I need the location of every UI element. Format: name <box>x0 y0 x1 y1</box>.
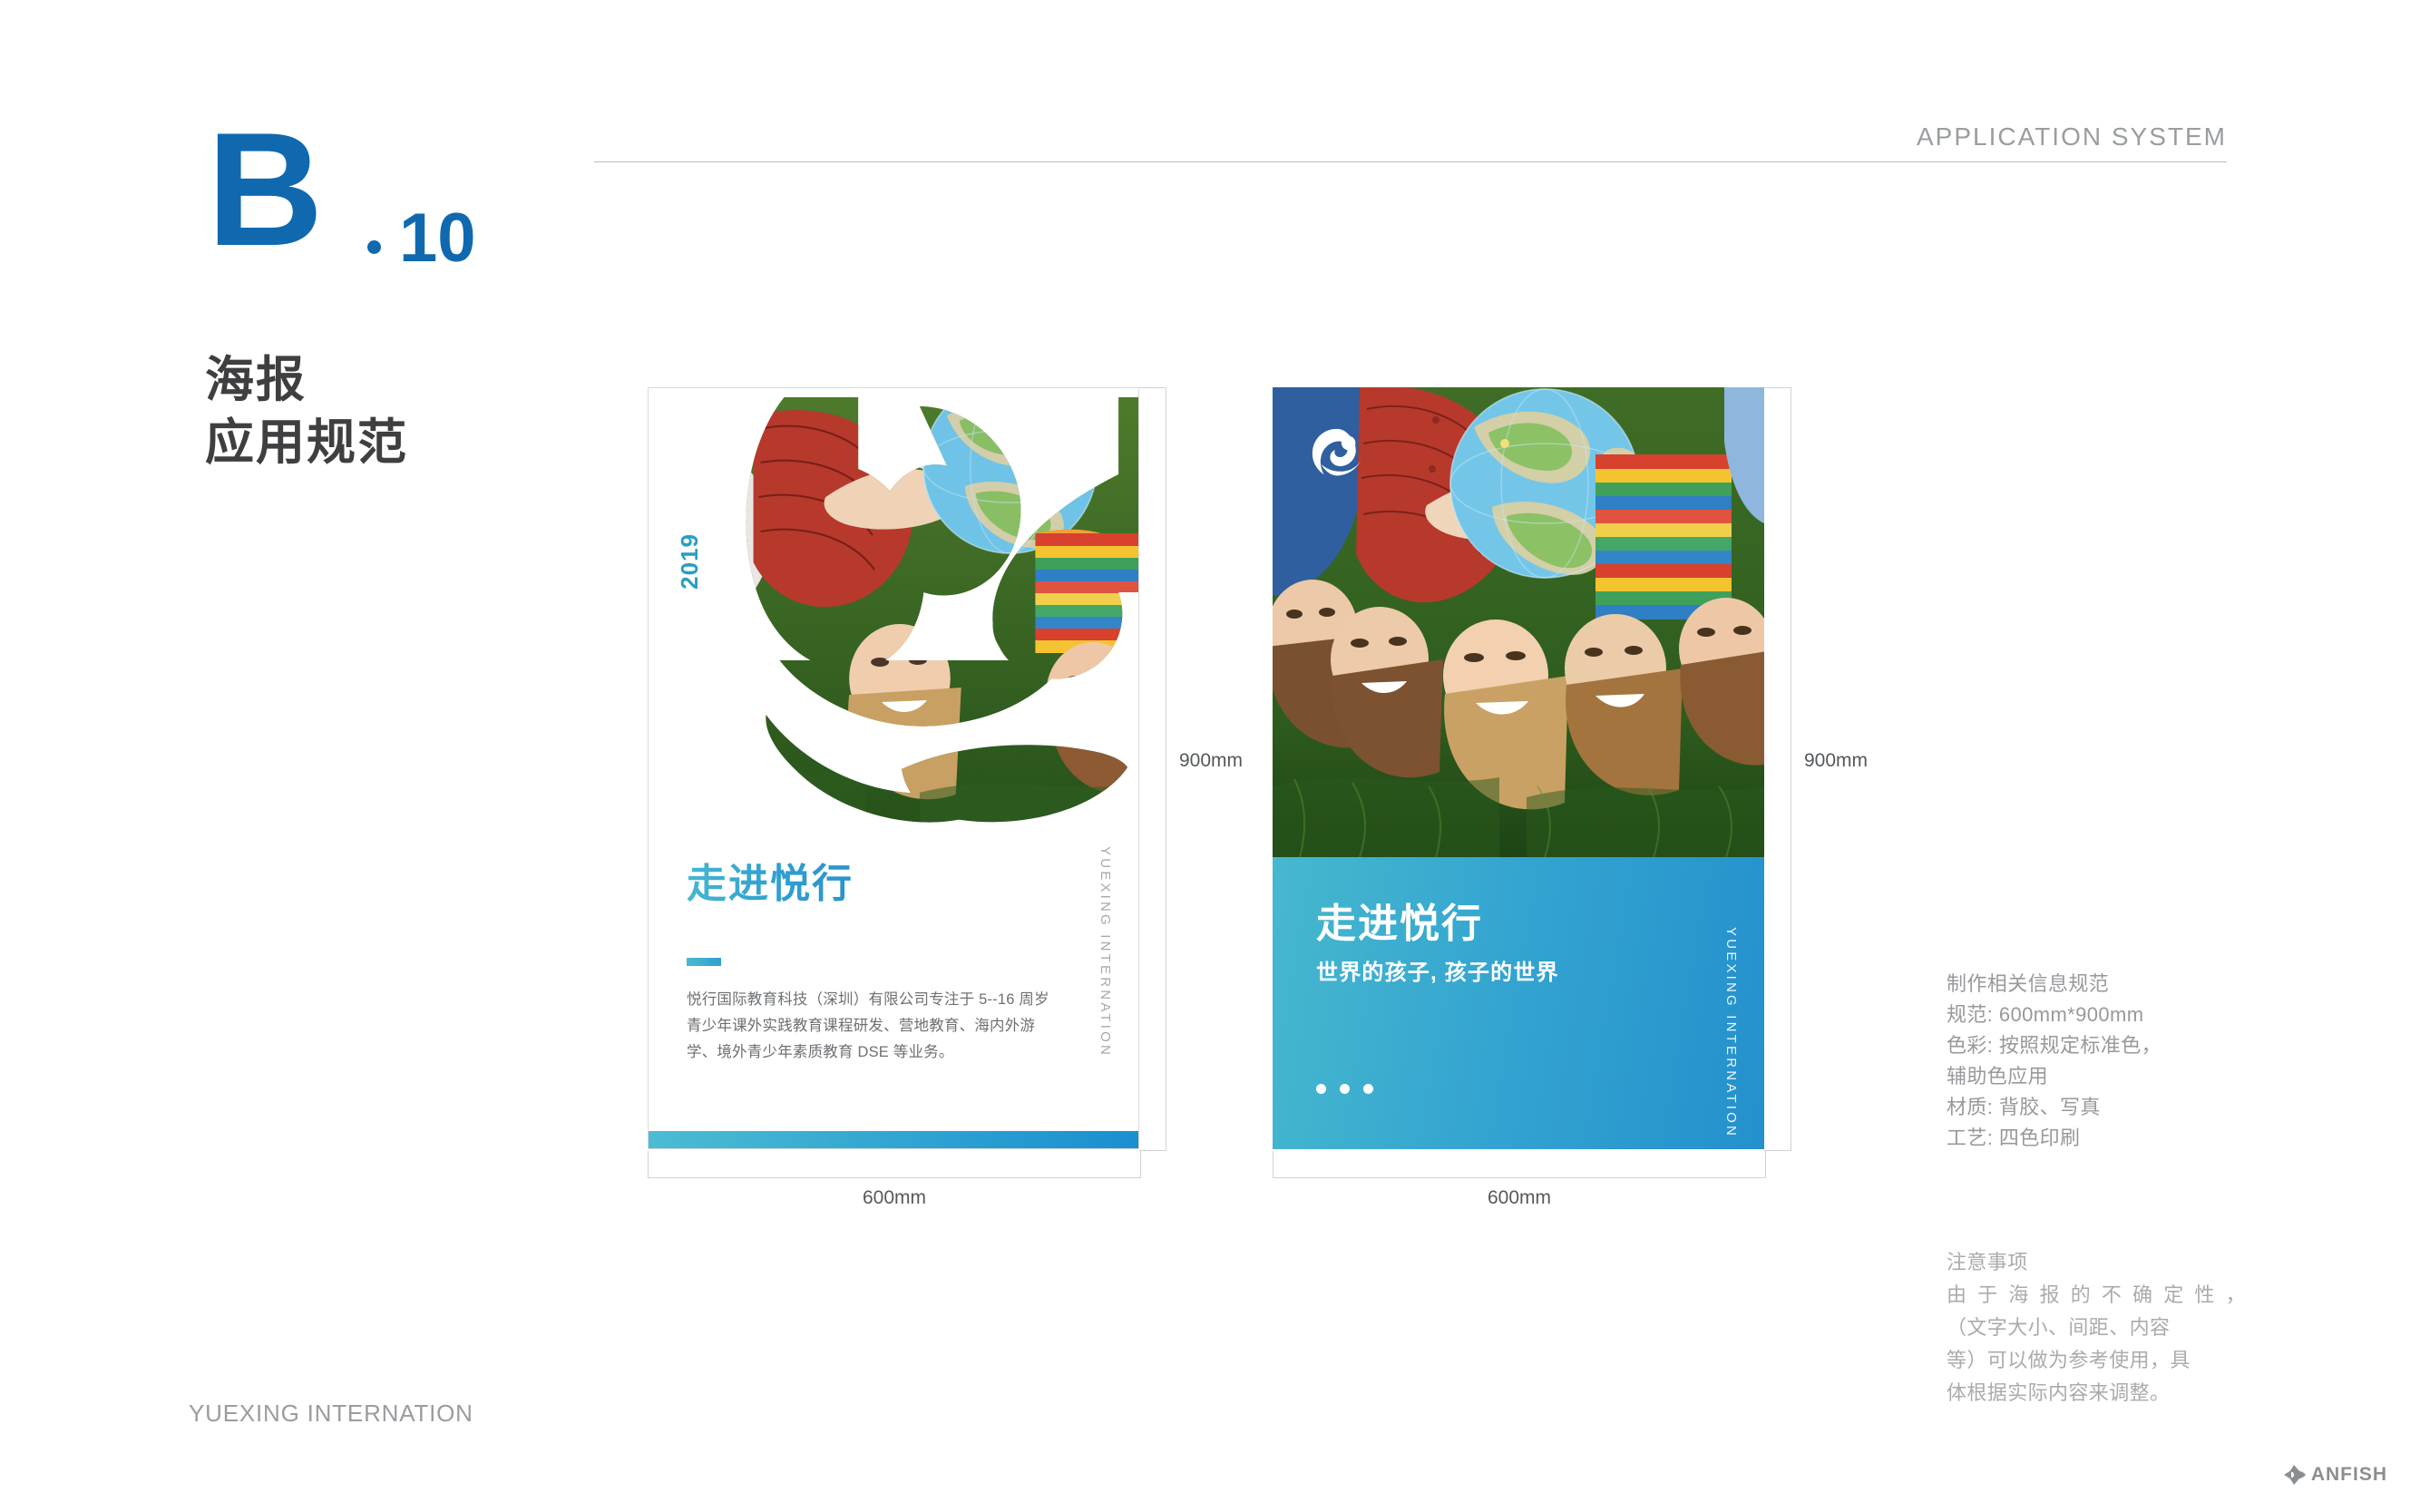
spec-color-1: 色彩: 按照规定标准色， <box>1947 1030 2246 1061</box>
spec-color-2: 辅助色应用 <box>1947 1061 2246 1092</box>
page-canvas: APPLICATION SYSTEM B 10 海报 应用规范 <box>0 0 2420 1512</box>
watermark: ANFISH <box>2282 1461 2387 1488</box>
poster-vertical-brand: YUEXING INTERNATION <box>1723 927 1739 1138</box>
section-subtitle-line1: 海报 <box>205 349 408 412</box>
poster1-height-bracket <box>1139 387 1166 1151</box>
poster-year-label: 2019 <box>676 533 704 590</box>
poster1-width-bracket <box>648 1151 1141 1178</box>
poster-photo-masked <box>649 388 1138 851</box>
footer-brand: YUEXING INTERNATION <box>189 1400 473 1428</box>
fish-logo-icon <box>2282 1461 2309 1488</box>
header-divider <box>594 161 2227 162</box>
poster2-width-bracket <box>1273 1151 1766 1178</box>
brand-logo-mark <box>1309 425 1365 482</box>
section-subtitle: 海报 应用规范 <box>205 349 408 474</box>
poster-title: 走进悦行 <box>687 851 854 909</box>
notes-line-4: 体根据实际内容来调整。 <box>1947 1377 2246 1410</box>
poster-body-text: 悦行国际教育科技（深圳）有限公司专注于 5--16 周岁青少年课外实践教育课程研… <box>687 987 1063 1066</box>
poster2-width-label: 600mm <box>1273 1187 1766 1209</box>
section-subtitle-line2: 应用规范 <box>205 412 408 474</box>
section-letter: B <box>207 109 322 270</box>
poster1-width-label: 600mm <box>648 1187 1141 1209</box>
watermark-text: ANFISH <box>2311 1464 2387 1486</box>
poster-title: 走进悦行 <box>1316 891 1483 949</box>
notes-block: 注意事项 由于海报的不确定性， （文字大小、间距、内容 等）可以做为参考使用，具… <box>1947 1246 2246 1410</box>
section-number: 10 <box>399 204 476 273</box>
production-spec-block: 制作相关信息规范 规范: 600mm*900mm 色彩: 按照规定标准色， 辅助… <box>1947 969 2246 1154</box>
section-separator-dot <box>367 240 381 254</box>
poster-dots-decoration <box>1051 459 1097 466</box>
notes-line-3: 等）可以做为参考使用，具 <box>1947 1344 2246 1377</box>
spec-process: 工艺: 四色印刷 <box>1947 1123 2246 1154</box>
kids-on-grass-photo <box>649 388 1138 851</box>
poster-subtitle: 世界的孩子, 孩子的世界 <box>1316 954 1559 986</box>
poster2-height-bracket <box>1764 387 1791 1151</box>
poster-title-rule <box>687 958 721 966</box>
poster1-height-label: 900mm <box>1179 750 1243 772</box>
poster-vertical-brand: YUEXING INTERNATION <box>1098 846 1113 1058</box>
poster-preview-blue[interactable]: 走进悦行 世界的孩子, 孩子的世界 YUEXING INTERNATION <box>1273 387 1764 1149</box>
poster2-height-label: 900mm <box>1804 750 1868 772</box>
notes-heading: 注意事项 <box>1947 1246 2246 1279</box>
notes-line-2: （文字大小、间距、内容 <box>1947 1312 2246 1344</box>
poster-bottom-gradient-bar <box>649 1131 1138 1148</box>
poster-preview-white[interactable]: 2019 走进悦行 悦行国际教育科技（深圳）有限公司专注于 5--16 周岁青少… <box>648 387 1139 1149</box>
poster-dots-decoration <box>1316 1084 1373 1094</box>
header-title: APPLICATION SYSTEM <box>1917 122 2227 151</box>
notes-line-1: 由于海报的不确定性， <box>1947 1279 2246 1312</box>
spec-size: 规范: 600mm*900mm <box>1947 1000 2246 1030</box>
spec-material: 材质: 背胶、写真 <box>1947 1092 2246 1123</box>
spec-heading: 制作相关信息规范 <box>1947 969 2246 1000</box>
